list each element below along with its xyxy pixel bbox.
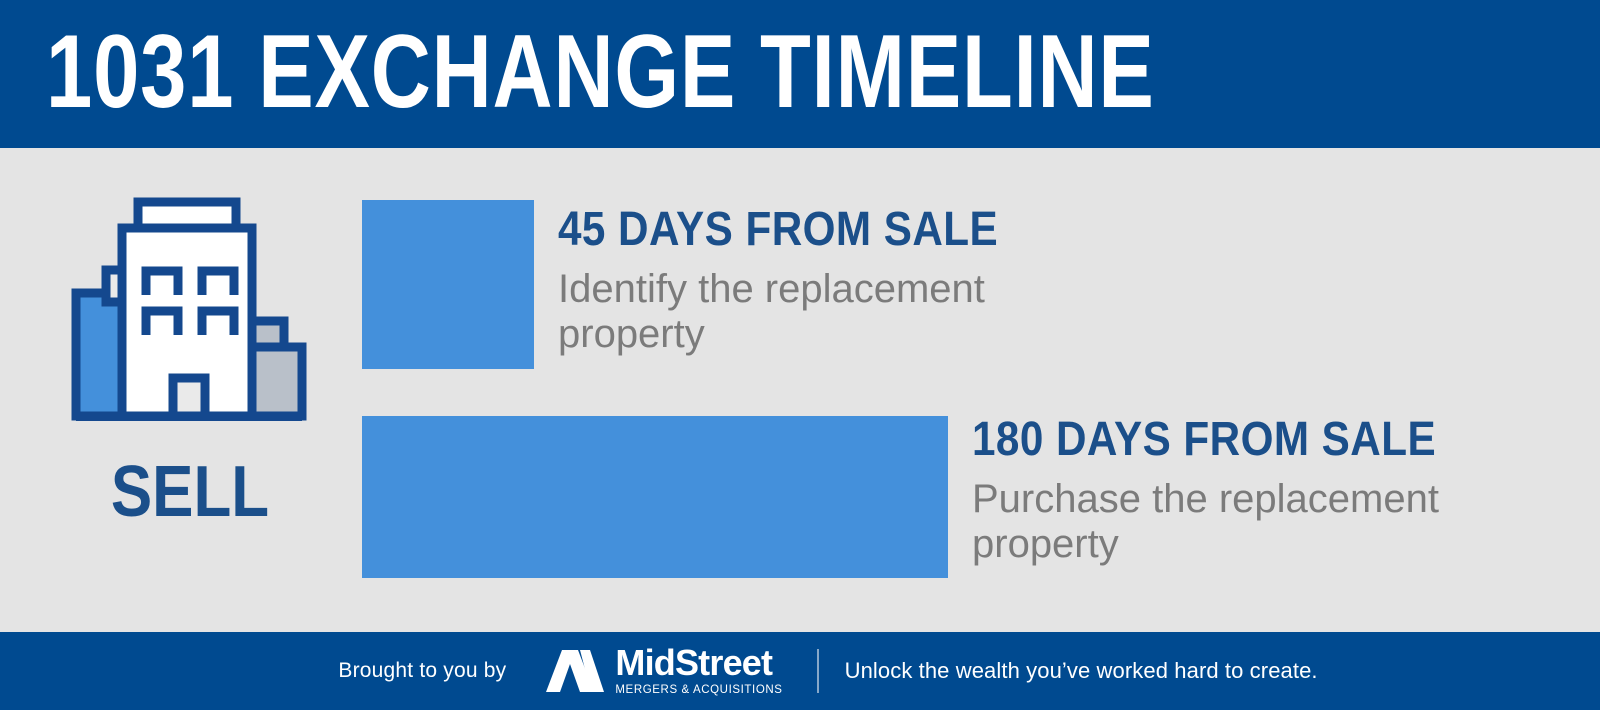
main-content: SELL 45 DAYS FROM SALE Identify the repl…	[0, 148, 1600, 632]
midstreet-wordmark: MidStreet	[615, 645, 782, 681]
sell-block: SELL	[60, 188, 320, 498]
header-banner: 1031 EXCHANGE TIMELINE	[0, 0, 1600, 148]
midstreet-tagline-sub: MERGERS & ACQUISITIONS	[615, 683, 782, 697]
milestone-copy-45-days: 45 DAYS FROM SALE Identify the replaceme…	[558, 206, 1198, 357]
bar-180-days	[362, 416, 948, 578]
midstreet-logo: MidStreet MERGERS & ACQUISITIONS	[544, 645, 782, 697]
milestone-body: Purchase the replacement property	[972, 477, 1472, 567]
bar-45-days	[362, 200, 534, 369]
footer-tagline: Unlock the wealth you’ve worked hard to …	[845, 658, 1318, 684]
milestone-heading: 45 DAYS FROM SALE	[558, 206, 1121, 254]
brought-to-you-by-label: Brought to you by	[338, 659, 506, 683]
office-building-icon	[60, 188, 320, 428]
page-title: 1031 EXCHANGE TIMELINE	[46, 16, 1155, 128]
footer-banner: Brought to you by MidStreet MERGERS & AC…	[0, 632, 1600, 710]
milestone-heading: 180 DAYS FROM SALE	[972, 416, 1553, 464]
sell-label: SELL	[78, 456, 302, 528]
midstreet-logo-mark	[544, 648, 606, 694]
milestone-body: Identify the replacement property	[558, 267, 1028, 357]
milestone-copy-180-days: 180 DAYS FROM SALE Purchase the replacem…	[972, 416, 1600, 567]
footer-divider	[817, 649, 819, 693]
